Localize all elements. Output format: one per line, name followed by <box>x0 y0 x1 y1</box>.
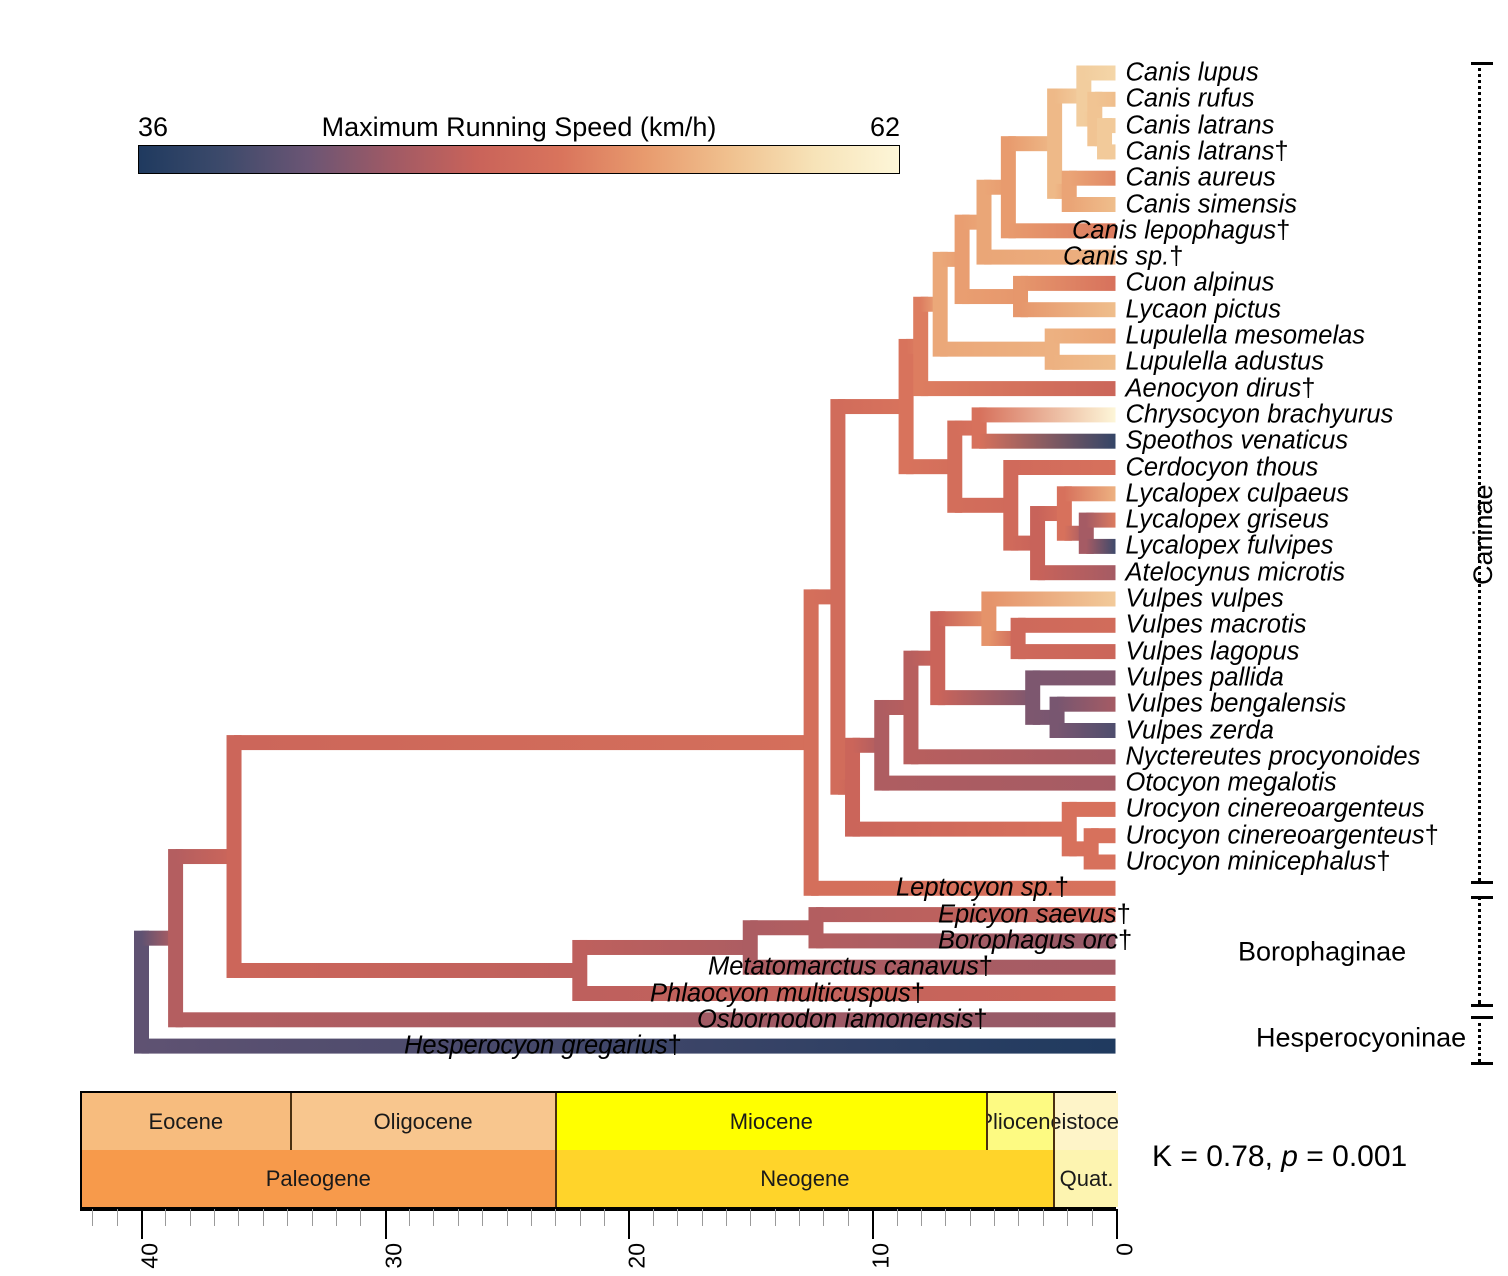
tip-label: Vulpes vulpes <box>1126 586 1284 612</box>
axis-tick-minor <box>750 1209 751 1226</box>
tip-label-text: Vulpes zerda <box>1126 716 1274 744</box>
axis-tick-minor <box>1092 1209 1093 1226</box>
p-value: = 0.001 <box>1298 1140 1407 1173</box>
axis-tick-minor <box>117 1209 118 1226</box>
axis-tick-minor <box>945 1209 946 1226</box>
axis-tick-minor <box>702 1209 703 1226</box>
epoch-label: Oligocene <box>374 1109 473 1135</box>
branch-horizontal <box>1091 828 1115 843</box>
axis-tick-minor <box>360 1209 361 1226</box>
tip-label-text: Urocyon cinereoargenteus <box>1126 821 1425 849</box>
axis-tick-minor <box>92 1209 93 1226</box>
tip-label: Canis aureus <box>1126 165 1276 191</box>
period-cell: Paleogene <box>82 1150 557 1207</box>
axis-tick-minor <box>677 1209 678 1226</box>
branch-horizontal <box>1064 486 1115 501</box>
tip-label-text: Vulpes macrotis <box>1126 611 1307 639</box>
tip-label-text: Cuon alpinus <box>1126 269 1275 297</box>
extinct-dagger-icon: † <box>1276 216 1290 244</box>
tip-label-text: Canis lupus <box>1126 58 1259 86</box>
tip-label: Canis latrans† <box>1126 139 1289 165</box>
branch-horizontal <box>1021 276 1116 291</box>
branch-horizontal <box>1069 197 1115 212</box>
tip-label: Otocyon megalotis <box>1126 770 1337 796</box>
tip-label: Vulpes macrotis <box>1126 613 1307 639</box>
clade-label-caninae: Caninae <box>1468 484 1499 585</box>
axis-tick-minor <box>238 1209 239 1226</box>
tip-label-text: Lycalopex fulvipes <box>1126 532 1334 560</box>
axis-tick-minor <box>799 1209 800 1226</box>
phylogenetic-tree: Canis lupusCanis rufusCanis latransCanis… <box>0 0 1508 1090</box>
axis-tick-major <box>872 1209 874 1239</box>
tip-label-text: Canis sp. <box>1063 242 1169 270</box>
tip-label: Hesperocyon gregarius† <box>404 1033 682 1059</box>
tip-label: Urocyon minicephalus† <box>1126 849 1391 875</box>
tip-label-text: Phlaocyon multicuspus <box>650 979 911 1007</box>
clade-bracket-caninae <box>1478 62 1481 881</box>
axis-tick-minor <box>263 1209 264 1226</box>
extinct-dagger-icon: † <box>973 1005 987 1033</box>
tip-label-text: Atelocynus microtis <box>1126 558 1346 586</box>
epoch-cell: Pliocene <box>988 1093 1055 1150</box>
branch-horizontal <box>955 498 1011 513</box>
tip-label-text: Leptocyon sp. <box>896 874 1055 902</box>
period-label: Neogene <box>760 1166 849 1192</box>
branch-horizontal <box>1086 513 1115 528</box>
axis-tick-minor <box>994 1209 995 1226</box>
axis-line <box>80 1209 1116 1211</box>
tip-label-text: Osbornodon iamonensis <box>697 1005 973 1033</box>
tip-label-text: Epicyon saevus <box>938 900 1117 928</box>
extinct-dagger-icon: † <box>668 1031 682 1059</box>
branch-horizontal <box>921 381 1116 396</box>
branch-horizontal <box>1086 539 1115 554</box>
tip-label-text: Canis latrans <box>1126 137 1275 165</box>
branch-vertical <box>134 931 149 1054</box>
branch-horizontal <box>234 735 811 750</box>
axis-tick-minor <box>970 1209 971 1226</box>
axis-tick-minor <box>604 1209 605 1226</box>
time-axis: 010203040 <box>80 1209 1116 1276</box>
axis-tick-label: 10 <box>868 1243 895 1269</box>
period-cell: Neogene <box>557 1150 1055 1207</box>
branch-horizontal <box>1021 302 1116 317</box>
tip-label: Speothos venaticus <box>1126 428 1349 454</box>
branch-vertical <box>804 589 819 895</box>
branch-horizontal <box>911 749 1116 764</box>
branch-horizontal <box>1069 171 1115 186</box>
clade-label-borophaginae: Borophaginae <box>1238 937 1406 968</box>
epoch-cell: Eocene <box>82 1093 292 1150</box>
branch-horizontal <box>962 289 1020 304</box>
tip-label: Chrysocyon brachyurus <box>1126 402 1394 428</box>
extinct-dagger-icon: † <box>1117 900 1131 928</box>
branch-horizontal <box>1057 697 1115 712</box>
branch-horizontal <box>1069 802 1115 817</box>
branch-horizontal <box>1084 66 1116 81</box>
branch-horizontal <box>1052 329 1115 344</box>
tip-label: Phlaocyon multicuspus† <box>650 981 925 1007</box>
tip-label: Canis lupus <box>1126 60 1259 86</box>
axis-tick-label: 20 <box>624 1243 651 1269</box>
branch-horizontal <box>882 776 1116 791</box>
clade-label-hesperocyoninae: Hesperocyoninae <box>1256 1023 1466 1054</box>
axis-tick-minor <box>726 1209 727 1226</box>
branch-vertical <box>899 339 914 474</box>
bracket-cap-top <box>1471 1016 1493 1019</box>
axis-tick-minor <box>1043 1209 1044 1226</box>
branch-vertical <box>933 252 948 357</box>
branch-vertical <box>1001 136 1016 238</box>
tip-label: Atelocynus microtis <box>1126 560 1346 586</box>
tip-label-text: Lupulella adustus <box>1126 348 1324 376</box>
branch-horizontal <box>989 592 1116 607</box>
epoch-cell: Oligocene <box>292 1093 557 1150</box>
tip-label: Lupulella adustus <box>1126 350 1324 376</box>
extinct-dagger-icon: † <box>1376 847 1390 875</box>
tip-label-text: Urocyon cinereoargenteus <box>1126 795 1425 823</box>
extinct-dagger-icon: † <box>911 979 925 1007</box>
branch-horizontal <box>1057 723 1115 738</box>
axis-tick-minor <box>482 1209 483 1226</box>
tip-label: Canis simensis <box>1126 192 1297 218</box>
branch-horizontal <box>750 920 816 935</box>
axis-tick-minor <box>165 1209 166 1226</box>
tip-label-text: Lycalopex culpaeus <box>1126 479 1350 507</box>
branch-horizontal <box>979 407 1115 422</box>
branch-horizontal <box>1038 565 1116 580</box>
axis-tick-minor <box>1067 1209 1068 1226</box>
tip-label: Lycalopex culpaeus <box>1126 481 1350 507</box>
tip-label-text: Aenocyon dirus <box>1126 374 1302 402</box>
epoch-cell: Pleistocene <box>1055 1093 1118 1150</box>
tip-label: Cerdocyon thous <box>1126 455 1319 481</box>
extinct-dagger-icon: † <box>1169 242 1183 270</box>
tip-label-text: Lupulella mesomelas <box>1126 321 1366 349</box>
bracket-cap-bottom <box>1471 1062 1493 1065</box>
axis-tick-minor <box>312 1209 313 1226</box>
axis-tick-minor <box>287 1209 288 1226</box>
tip-label: Leptocyon sp.† <box>896 876 1069 902</box>
period-row: PaleogeneNeogeneQuat. <box>82 1150 1114 1207</box>
axis-tick-label: 40 <box>136 1243 163 1269</box>
axis-tick-minor <box>775 1209 776 1226</box>
branch-horizontal <box>940 342 1052 357</box>
period-cell: Quat. <box>1055 1150 1118 1207</box>
p-symbol: p <box>1281 1140 1298 1173</box>
tip-label: Canis rufus <box>1126 87 1255 113</box>
axis-tick-label: 0 <box>1112 1243 1139 1256</box>
axis-tick-minor <box>433 1209 434 1226</box>
branch-horizontal <box>979 434 1115 449</box>
tip-label-text: Canis rufus <box>1126 85 1255 113</box>
extinct-dagger-icon: † <box>979 952 993 980</box>
epoch-cell: Miocene <box>557 1093 988 1150</box>
branch-horizontal <box>1095 92 1116 107</box>
tip-label-text: Speothos venaticus <box>1126 426 1349 454</box>
branch-horizontal <box>234 963 580 978</box>
tip-label-text: Vulpes pallida <box>1126 663 1284 691</box>
extinct-dagger-icon: † <box>1301 374 1315 402</box>
extinct-dagger-icon: † <box>1274 137 1288 165</box>
axis-tick-minor <box>214 1209 215 1226</box>
branch-vertical <box>227 735 242 978</box>
tip-label: Canis latrans <box>1126 113 1275 139</box>
axis-tick-minor <box>409 1209 410 1226</box>
tip-label: Aenocyon dirus† <box>1126 376 1316 402</box>
branch-vertical <box>830 399 845 795</box>
tip-label: Canis lepophagus† <box>1072 218 1290 244</box>
extinct-dagger-icon: † <box>1055 874 1069 902</box>
epoch-label: Pliocene <box>988 1109 1055 1135</box>
tip-label-text: Hesperocyon gregarius <box>404 1031 668 1059</box>
axis-tick-label: 30 <box>380 1243 407 1269</box>
branch-horizontal <box>1091 855 1115 870</box>
tip-label: Cuon alpinus <box>1126 271 1275 297</box>
branch-vertical <box>1047 89 1062 199</box>
tip-label: Osbornodon iamonensis† <box>697 1007 988 1033</box>
axis-tick-minor <box>653 1209 654 1226</box>
axis-tick-minor <box>336 1209 337 1226</box>
tip-label-text: Vulpes vulpes <box>1126 584 1284 612</box>
branch-horizontal <box>1105 118 1116 133</box>
tip-label: Nyctereutes procyonoides <box>1126 744 1421 770</box>
tip-label-text: Canis lepophagus <box>1072 216 1276 244</box>
k-statistic: K = 0.78, <box>1152 1140 1281 1173</box>
tip-label: Lycalopex fulvipes <box>1126 534 1334 560</box>
tip-label: Vulpes bengalensis <box>1126 691 1347 717</box>
branch-horizontal <box>1033 670 1116 685</box>
tip-label-text: Lycaon pictus <box>1126 295 1281 323</box>
bracket-cap-bottom <box>1471 1004 1493 1007</box>
branch-horizontal <box>1011 460 1116 475</box>
branch-horizontal <box>176 849 234 864</box>
axis-tick-minor <box>507 1209 508 1226</box>
tip-label: Vulpes lagopus <box>1126 639 1300 665</box>
tip-label-text: Vulpes bengalensis <box>1126 689 1347 717</box>
tip-label-text: Canis aureus <box>1126 163 1276 191</box>
axis-tick-minor <box>531 1209 532 1226</box>
tip-label: Borophagus orc† <box>938 928 1132 954</box>
tip-label: Epicyon saevus† <box>938 902 1131 928</box>
tip-label-text: Canis simensis <box>1126 190 1297 218</box>
branch-vertical <box>903 651 918 765</box>
axis-tick-minor <box>848 1209 849 1226</box>
epoch-label: Pleistocene <box>1055 1109 1118 1135</box>
extinct-dagger-icon: † <box>1118 926 1132 954</box>
tip-label: Lycaon pictus <box>1126 297 1281 323</box>
axis-tick-minor <box>897 1209 898 1226</box>
axis-tick-minor <box>190 1209 191 1226</box>
period-label: Paleogene <box>266 1166 371 1192</box>
tip-label-text: Metatomarctus canavus <box>708 952 979 980</box>
branch-horizontal <box>938 611 989 626</box>
period-label: Quat. <box>1060 1166 1114 1192</box>
branch-horizontal <box>853 822 1070 837</box>
axis-tick-minor <box>1018 1209 1019 1226</box>
phylogenetic-signal-stats: K = 0.78, p = 0.001 <box>1152 1140 1407 1174</box>
tip-label: Canis sp.† <box>1063 244 1183 270</box>
axis-tick-major <box>1116 1209 1118 1239</box>
axis-tick-minor <box>458 1209 459 1226</box>
tip-label-text: Lycalopex griseus <box>1126 505 1330 533</box>
geologic-timescale: EoceneOligoceneMiocenePliocenePleistocen… <box>80 1091 1116 1209</box>
axis-tick-minor <box>921 1209 922 1226</box>
tip-label: Vulpes zerda <box>1126 718 1274 744</box>
tip-label-text: Vulpes lagopus <box>1126 637 1300 665</box>
clade-bracket-borophaginae <box>1478 896 1481 1004</box>
axis-tick-major <box>385 1209 387 1239</box>
tip-label-text: Canis latrans <box>1126 111 1275 139</box>
tip-label: Lycalopex griseus <box>1126 507 1330 533</box>
tip-label: Metatomarctus canavus† <box>708 954 993 980</box>
epoch-label: Miocene <box>730 1109 813 1135</box>
axis-tick-major <box>628 1209 630 1239</box>
axis-tick-major <box>141 1209 143 1239</box>
axis-tick-minor <box>823 1209 824 1226</box>
branch-horizontal <box>938 690 1033 705</box>
tip-label: Lupulella mesomelas <box>1126 323 1366 349</box>
tip-label: Urocyon cinereoargenteus† <box>1126 823 1439 849</box>
tip-label-text: Otocyon megalotis <box>1126 768 1337 796</box>
tip-label: Urocyon cinereoargenteus <box>1126 797 1425 823</box>
tip-label-text: Nyctereutes procyonoides <box>1126 742 1421 770</box>
bracket-cap-top <box>1471 896 1493 899</box>
tip-label: Vulpes pallida <box>1126 665 1284 691</box>
branch-horizontal <box>1052 355 1115 370</box>
extinct-dagger-icon: † <box>1425 821 1439 849</box>
clade-bracket-hesperocyoninae <box>1478 1016 1481 1062</box>
axis-tick-minor <box>555 1209 556 1226</box>
branch-horizontal <box>1018 618 1115 633</box>
tip-label-text: Cerdocyon thous <box>1126 453 1319 481</box>
branch-horizontal <box>838 399 906 414</box>
branch-vertical <box>168 849 183 1027</box>
epoch-label: Eocene <box>149 1109 224 1135</box>
branch-horizontal <box>1105 144 1116 159</box>
branch-horizontal <box>1018 644 1115 659</box>
bracket-cap-top <box>1471 62 1493 65</box>
tip-label-text: Urocyon minicephalus <box>1126 847 1377 875</box>
axis-tick-minor <box>580 1209 581 1226</box>
bracket-cap-bottom <box>1471 881 1493 884</box>
tip-label-text: Chrysocyon brachyurus <box>1126 400 1394 428</box>
tip-label-text: Borophagus orc <box>938 926 1118 954</box>
epoch-row: EoceneOligoceneMiocenePliocenePleistocen… <box>82 1093 1114 1150</box>
